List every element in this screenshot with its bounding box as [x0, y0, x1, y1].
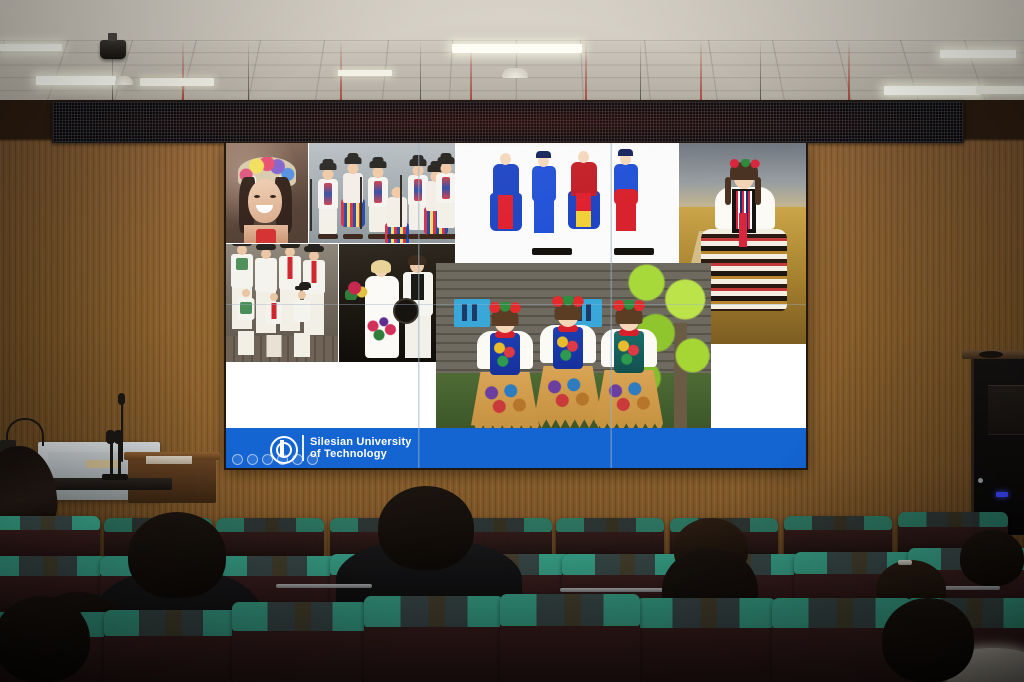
table-documents — [146, 456, 192, 464]
led-banner-text: 西里西亚大讲堂第七期：品多元文化，拓国际视野——波兰历史文化讲座 — [53, 102, 963, 142]
microphone-stem — [118, 440, 121, 478]
microphone-base — [102, 474, 128, 480]
photo-children-group — [309, 143, 455, 243]
hair-clip — [898, 560, 912, 565]
ceiling-dark-line — [760, 40, 761, 100]
equipment-rack-led-indicator — [996, 492, 1008, 497]
linkedin-icon[interactable] — [262, 454, 273, 465]
ceiling-light — [338, 70, 392, 76]
equipment-rack-cable-hole — [979, 351, 1003, 358]
seat — [232, 602, 368, 682]
seat — [556, 518, 664, 556]
seat — [364, 596, 504, 682]
equipment-rack-button[interactable] — [978, 478, 983, 483]
slide-brand-footer: Silesian University of Technology — [226, 428, 806, 468]
seat — [0, 516, 100, 556]
ceiling-speaker-icon — [502, 68, 528, 78]
seat — [216, 518, 324, 556]
photo-highlander-family — [226, 244, 338, 362]
ceiling-light — [940, 50, 1016, 58]
social-icon-row[interactable] — [232, 454, 318, 465]
seat — [104, 610, 238, 682]
seat — [784, 516, 892, 556]
ceiling-light — [452, 44, 582, 53]
ceiling-dark-line — [248, 40, 249, 100]
seat — [636, 598, 776, 682]
ceiling-red-line — [848, 40, 850, 100]
presentation-video-wall[interactable]: Silesian University of Technology — [226, 143, 806, 468]
arm-rail — [276, 584, 372, 588]
facebook-icon[interactable] — [232, 454, 243, 465]
instagram-icon[interactable] — [292, 454, 303, 465]
brand-line-2: of Technology — [310, 448, 412, 460]
ceiling-projector-icon — [100, 40, 126, 59]
ceiling-light — [976, 86, 1024, 94]
illustration-costume-couples — [456, 143, 678, 263]
ceiling-red-line — [182, 40, 184, 100]
ceiling-red-line — [700, 40, 702, 100]
audience-head — [960, 530, 1024, 586]
ceiling-dark-line — [640, 40, 641, 100]
ceiling-dark-line — [420, 40, 421, 100]
ceiling-upper-plain — [0, 0, 1024, 42]
brand-line-1: Silesian University — [310, 436, 412, 448]
slide-white-area-left — [226, 363, 456, 431]
youtube-icon[interactable] — [277, 454, 288, 465]
audience-head — [128, 512, 226, 598]
ceiling-light — [884, 86, 980, 95]
audience-head — [0, 596, 90, 682]
seat — [500, 594, 640, 682]
audience-head — [378, 486, 474, 570]
microphone-head — [114, 430, 123, 444]
lecture-hall-photo: 西里西亚大讲堂第七期：品多元文化，拓国际视野——波兰历史文化讲座 — [0, 0, 1024, 682]
led-banner: 西里西亚大讲堂第七期：品多元文化，拓国际视野——波兰历史文化讲座 — [52, 101, 964, 143]
ceiling-light — [0, 44, 62, 51]
audience-head — [882, 598, 974, 682]
microphone-stem — [110, 440, 113, 478]
lectern-note-pad — [86, 460, 118, 468]
ceiling — [0, 0, 1024, 100]
ceiling-smoke-detector-icon — [115, 76, 133, 85]
photo-woman-flower-crown — [226, 143, 308, 243]
rss-icon[interactable] — [307, 454, 318, 465]
ceiling-red-line — [585, 40, 587, 100]
twitter-icon[interactable] — [247, 454, 258, 465]
ceiling-light — [140, 78, 214, 86]
microphone-head — [118, 393, 125, 405]
equipment-rack — [971, 355, 1024, 535]
brand-name: Silesian University of Technology — [310, 436, 412, 460]
ceiling-light — [36, 76, 116, 85]
equipment-rack-panel — [988, 385, 1024, 435]
photo-three-girls-cabin — [436, 263, 711, 440]
